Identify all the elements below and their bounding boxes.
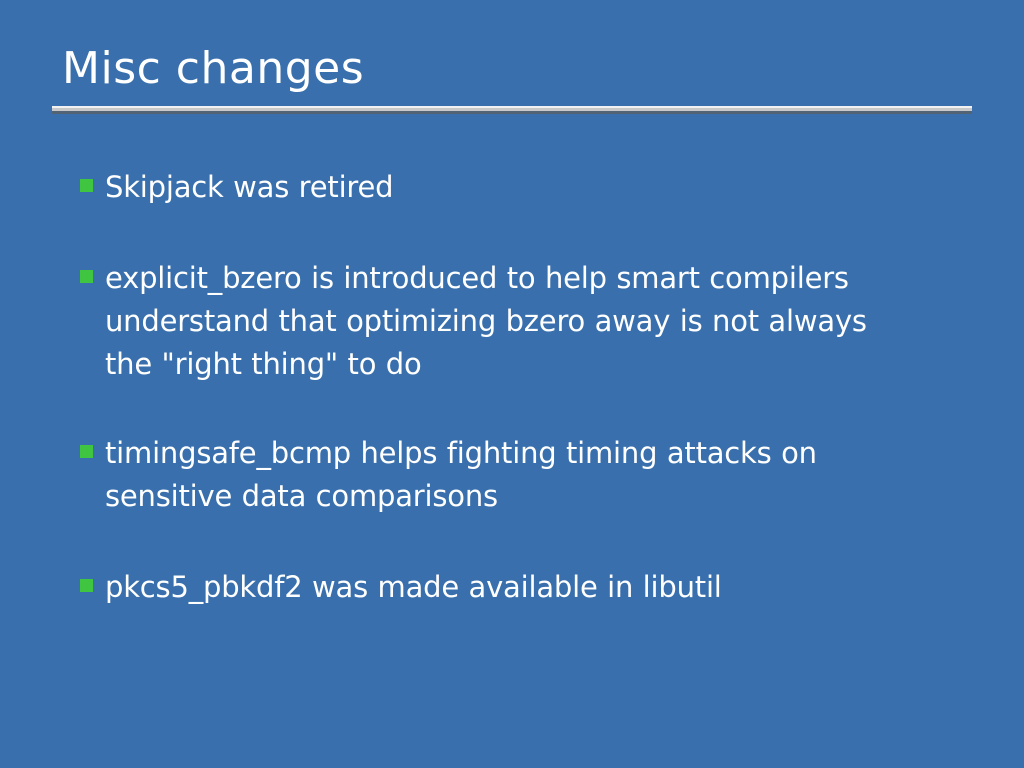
list-item-label: explicit_bzero is introduced to help sma… (105, 257, 923, 386)
list-item: Skipjack was retired (80, 166, 950, 209)
bullet-list: Skipjack was retired explicit_bzero is i… (80, 166, 950, 609)
square-bullet-icon (80, 179, 93, 192)
square-bullet-icon (80, 270, 93, 283)
presentation-slide: Misc changes Skipjack was retired explic… (0, 0, 1024, 768)
list-item: pkcs5_pbkdf2 was made available in libut… (80, 566, 950, 609)
divider-shadow (52, 111, 972, 114)
list-item-label: pkcs5_pbkdf2 was made available in libut… (105, 566, 925, 609)
list-item-label: timingsafe_bcmp helps fighting timing at… (105, 432, 895, 518)
list-item: timingsafe_bcmp helps fighting timing at… (80, 432, 950, 518)
square-bullet-icon (80, 579, 93, 592)
title-divider (52, 106, 972, 114)
page-title: Misc changes (62, 43, 364, 95)
list-item: explicit_bzero is introduced to help sma… (80, 257, 950, 386)
list-item-label: Skipjack was retired (105, 166, 925, 209)
square-bullet-icon (80, 445, 93, 458)
